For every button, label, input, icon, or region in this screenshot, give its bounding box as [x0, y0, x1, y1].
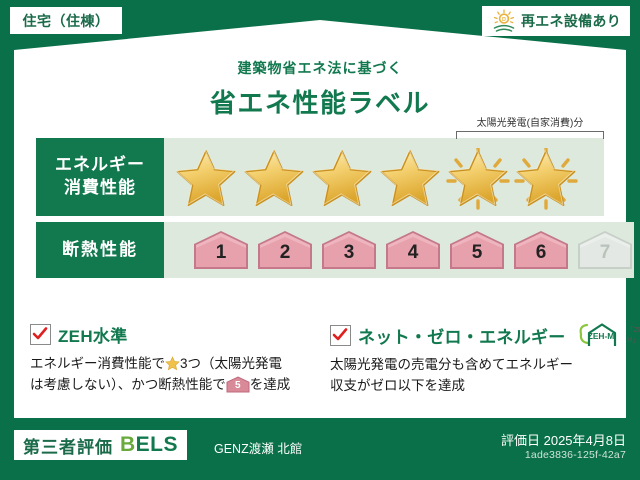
star-rating — [174, 148, 578, 210]
inline-badge-number: 5 — [226, 376, 250, 393]
zeh-m-logo-icon: ZEH-M — [575, 322, 619, 348]
renewable-equipment-tag: D 再エネ設備あり — [482, 6, 630, 36]
insulation-level-number: 3 — [320, 229, 378, 271]
energy-performance-body: 太陽光発電(自家消費)分 — [164, 138, 604, 216]
energy-performance-label: エネルギー 消費性能 — [36, 138, 164, 216]
insulation-performance-body: 1 2 3 4 5 6 7 — [164, 222, 634, 278]
heading-subtitle: 建築物省エネ法に基づく — [0, 58, 640, 78]
criterion-net-zero-header: ネット・ゼロ・エネルギー ZEH-M 「ZEH-M」 — [330, 322, 612, 348]
star-icon — [378, 148, 442, 210]
energy-label-line2: 消費性能 — [64, 177, 136, 200]
performance-table: エネルギー 消費性能 太陽光発電(自家消費)分 — [36, 138, 604, 284]
criterion-zeh-body: エネルギー消費性能で3つ（太陽光発電 は考慮しない）、かつ断熱性能で5を達成 — [30, 354, 312, 396]
criteria-section: ZEH水準 エネルギー消費性能で3つ（太陽光発電 は考慮しない）、かつ断熱性能で… — [30, 322, 612, 397]
insulation-level-badge: 5 — [448, 229, 506, 271]
renewable-equipment-label: 再エネ設備あり — [521, 11, 621, 31]
star-icon-solar — [514, 148, 578, 210]
insulation-performance-label: 断熱性能 — [36, 222, 164, 278]
criterion-net-zero-body: 太陽光発電の売電分も含めてエネルギー 収支がゼロ以下を達成 — [330, 355, 612, 397]
insulation-level-badge-inline: 5 — [226, 376, 250, 393]
insulation-level-number: 7 — [576, 229, 634, 271]
net-zero-body-part1: 太陽光発電の売電分も含めてエネルギー — [330, 357, 573, 372]
insulation-label-text: 断熱性能 — [62, 239, 138, 262]
housing-type-tag: 住宅（住棟） — [10, 7, 122, 34]
insulation-level-badge: 4 — [384, 229, 442, 271]
insulation-performance-row: 断熱性能 1 2 3 4 5 6 — [36, 222, 604, 278]
star-icon — [174, 148, 238, 210]
insulation-scale: 1 2 3 4 5 6 7 — [192, 229, 634, 271]
zeh-m-logo-caption: 「ZEH-M」 — [627, 325, 640, 345]
evaluation-id: 1ade3836-125f-42a7 — [525, 449, 626, 461]
sun-icon: D — [491, 9, 517, 33]
bels-tag: 第三者評価 BELS — [14, 430, 187, 460]
solar-annotation: 太陽光発電(自家消費)分 — [456, 114, 604, 139]
insulation-level-badge: 2 — [256, 229, 314, 271]
insulation-level-number: 4 — [384, 229, 442, 271]
svg-text:D: D — [502, 17, 506, 23]
star-icon-solar — [446, 148, 510, 210]
energy-label-line1: エネルギー — [55, 154, 145, 177]
criterion-zeh: ZEH水準 エネルギー消費性能で3つ（太陽光発電 は考慮しない）、かつ断熱性能で… — [30, 322, 312, 397]
zeh-body-part2: 3つ（太陽光発電 — [180, 356, 282, 371]
bels-jp-label: 第三者評価 — [23, 433, 113, 458]
insulation-level-badge: 7 — [576, 229, 634, 271]
svg-text:ZEH-M: ZEH-M — [587, 331, 614, 341]
checkbox-net-zero[interactable] — [330, 325, 351, 346]
solar-annotation-text: 太陽光発電(自家消費)分 — [456, 114, 604, 129]
insulation-level-number: 2 — [256, 229, 314, 271]
criterion-zeh-title: ZEH水準 — [58, 322, 128, 347]
insulation-level-badge: 6 — [512, 229, 570, 271]
net-zero-body-part2: 収支がゼロ以下を達成 — [330, 378, 465, 393]
insulation-level-badge: 1 — [192, 229, 250, 271]
criterion-net-zero-title: ネット・ゼロ・エネルギー — [358, 323, 566, 348]
bels-logo-b: B — [120, 433, 136, 456]
insulation-level-badge: 3 — [320, 229, 378, 271]
label-heading: 建築物省エネ法に基づく 省エネ性能ラベル — [0, 58, 640, 120]
insulation-level-number: 1 — [192, 229, 250, 271]
checkbox-zeh[interactable] — [30, 324, 51, 345]
energy-performance-label: 住宅（住棟） D 再エネ設備あり — [0, 0, 640, 480]
solar-bracket — [456, 131, 604, 139]
insulation-level-number: 5 — [448, 229, 506, 271]
zeh-body-part3: は考慮しない）、かつ断熱性能で — [30, 377, 226, 392]
energy-performance-row: エネルギー 消費性能 太陽光発電(自家消費)分 — [36, 138, 604, 216]
star-icon — [165, 356, 180, 371]
zeh-body-part1: エネルギー消費性能で — [30, 356, 165, 371]
bels-logo-els: ELS — [136, 433, 178, 456]
bels-logo: BELS — [120, 433, 178, 457]
criterion-net-zero: ネット・ゼロ・エネルギー ZEH-M 「ZEH-M」 太陽光発電の売電分も含めて… — [330, 322, 612, 397]
housing-type-label: 住宅（住棟） — [23, 11, 110, 31]
evaluation-date: 評価日 2025年4月8日 — [501, 430, 626, 449]
star-icon — [242, 148, 306, 210]
star-icon — [310, 148, 374, 210]
zeh-body-part4: を達成 — [250, 377, 291, 392]
insulation-level-number: 6 — [512, 229, 570, 271]
building-name: GENZ渡瀬 北館 — [214, 438, 302, 457]
label-footer: 第三者評価 BELS GENZ渡瀬 北館 評価日 2025年4月8日 1ade3… — [0, 418, 640, 480]
criterion-zeh-header: ZEH水準 — [30, 322, 312, 347]
